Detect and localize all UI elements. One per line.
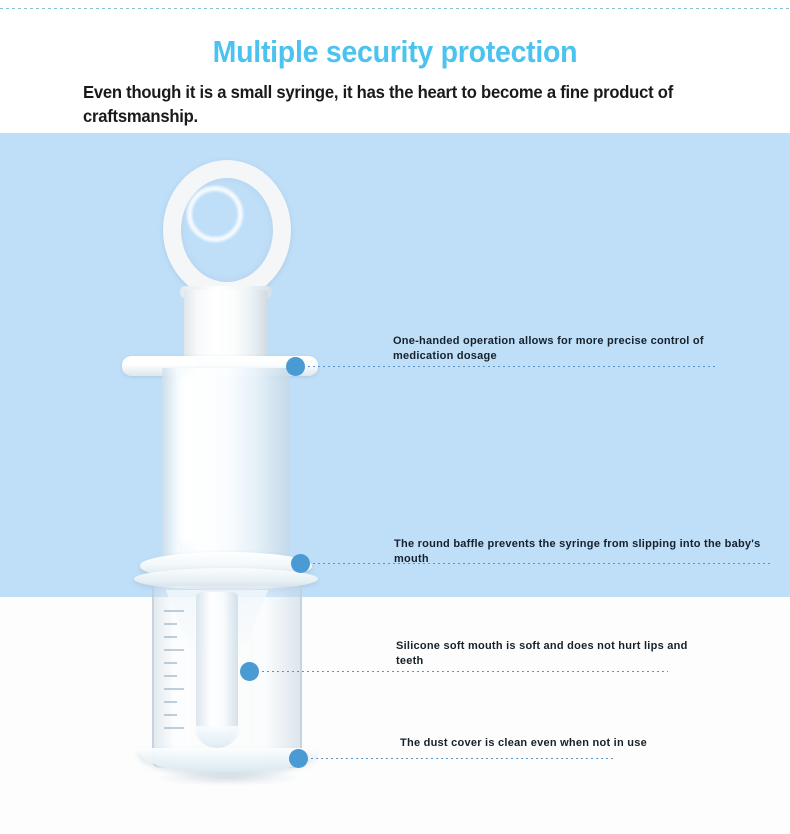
page-title: Multiple security protection — [32, 34, 759, 70]
callout-text-dust-cover: The dust cover is clean even when not in… — [400, 736, 700, 751]
measurement-scale-marks — [164, 610, 190, 740]
callout-text-silicone-soft-mouth: Silicone soft mouth is soft and does not… — [396, 639, 696, 669]
callout-text-one-handed-operation: One-handed operation allows for more pre… — [393, 334, 713, 364]
header-section: Multiple security protection Even though… — [0, 10, 790, 133]
callout-leader-silicone-soft-mouth — [257, 671, 668, 672]
callout-leader-dust-cover — [306, 758, 615, 759]
callout-text-round-baffle: The round baffle prevents the syringe fr… — [394, 537, 776, 567]
syringe-barrel — [162, 368, 290, 558]
page-subtitle: Even though it is a small syringe, it ha… — [83, 80, 691, 128]
callout-leader-one-handed-operation — [303, 366, 715, 367]
finger-ring-handle — [163, 160, 291, 300]
product-drop-shadow — [154, 770, 302, 786]
silicone-soft-mouth — [196, 592, 238, 742]
product-image — [110, 140, 330, 800]
product-infographic-page: Multiple security protection Even though… — [0, 0, 790, 834]
